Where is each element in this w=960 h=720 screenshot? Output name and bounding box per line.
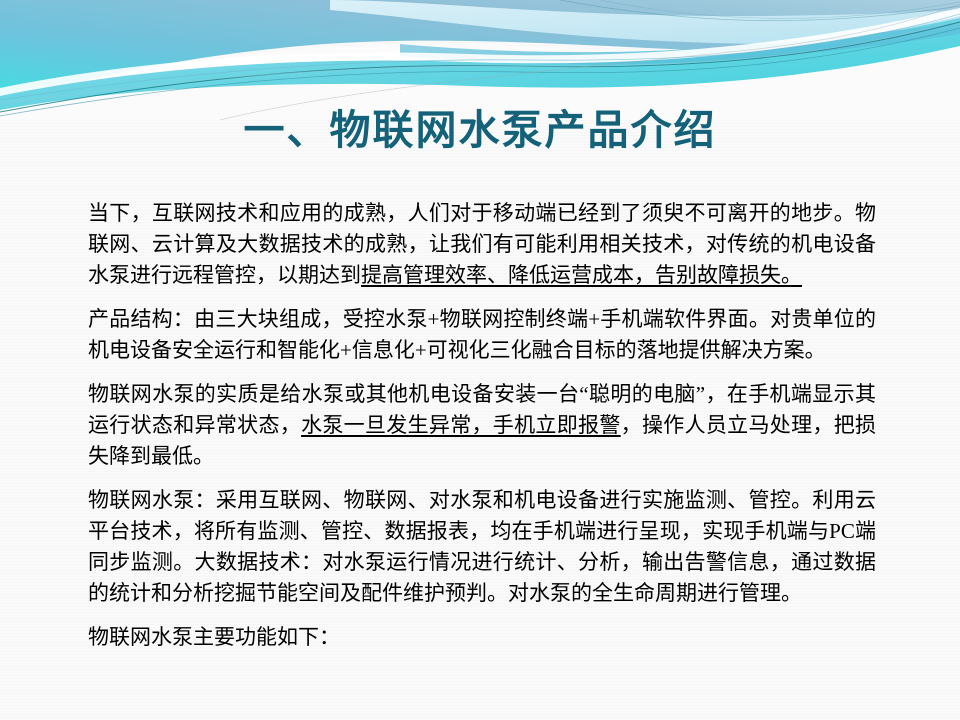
slide-body: 当下，互联网技术和应用的成熟，人们对于移动端已经到了须臾不可离开的地步。物联网、… (88, 198, 876, 653)
presentation-slide: 一、物联网水泵产品介绍 当下，互联网技术和应用的成熟，人们对于移动端已经到了须臾… (0, 0, 960, 720)
emphasized-text: 水泵一旦发生异常，手机立即报警 (301, 413, 621, 437)
body-text: 产品结构：由三大块组成，受控水泵+物联网控制终端+手机端软件界面。对贵单位的机电… (88, 307, 876, 362)
paragraph-product-structure: 产品结构：由三大块组成，受控水泵+物联网控制终端+手机端软件界面。对贵单位的机电… (88, 304, 876, 366)
emphasized-text: 提高管理效率、降低运营成本，告别故障损失。 (361, 263, 802, 287)
wave-banner-graphic (0, 0, 960, 120)
page-title: 一、物联网水泵产品介绍 (0, 108, 960, 153)
body-text: 物联网水泵：采用互联网、物联网、对水泵和机电设备进行实施监测、管控。利用云平台技… (88, 488, 876, 605)
wave-banner-svg (0, 0, 960, 120)
paragraph-background: 当下，互联网技术和应用的成熟，人们对于移动端已经到了须臾不可离开的地步。物联网、… (88, 198, 876, 291)
paragraph-technology: 物联网水泵：采用互联网、物联网、对水泵和机电设备进行实施监测、管控。利用云平台技… (88, 485, 876, 609)
paragraph-functions-intro: 物联网水泵主要功能如下： (88, 622, 876, 653)
body-text: 物联网水泵主要功能如下： (88, 625, 340, 649)
paragraph-essence: 物联网水泵的实质是给水泵或其他机电设备安装一台“聪明的电脑”，在手机端显示其运行… (88, 379, 876, 472)
